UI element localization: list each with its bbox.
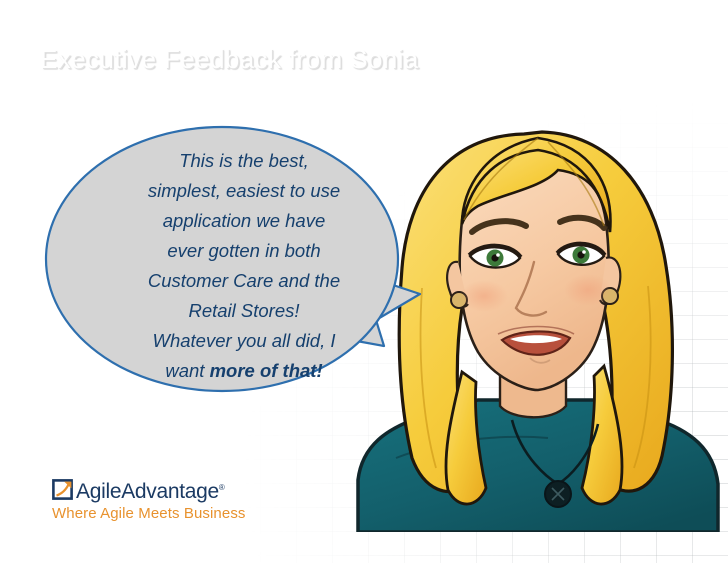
logo-word-advantage: Advantage [121, 480, 219, 503]
logo-tagline: Where Agile Meets Business [52, 505, 252, 522]
logo-trademark: ® [219, 483, 225, 492]
quote-line-8-plain: want [165, 360, 209, 381]
quote-line-8: want more of that! [92, 356, 396, 386]
slide-canvas: Executive Feedback from Sonia [0, 0, 728, 563]
logo-name-row: AgileAdvantage® [52, 477, 252, 502]
quote-line-4: ever gotten in both [92, 236, 396, 266]
quote-line-6: Retail Stores! [92, 296, 396, 326]
quote-line-7: Whatever you all did, I [92, 326, 396, 356]
blush-right [564, 274, 612, 306]
brand-logo[interactable]: AgileAdvantage® Where Agile Meets Busine… [52, 477, 252, 525]
page-title: Executive Feedback from Sonia [40, 44, 419, 75]
logo-wordmark: AgileAdvantage® [76, 477, 225, 502]
speech-bubble: This is the best, simplest, easiest to u… [44, 124, 440, 410]
logo-word-agile: Agile [76, 480, 121, 503]
quote-line-3: application we have [92, 206, 396, 236]
quote-text: This is the best, simplest, easiest to u… [92, 146, 396, 386]
quote-line-2: simplest, easiest to use [92, 176, 396, 206]
checkbox-arrow-icon [52, 479, 73, 500]
quote-line-8-emphasis: more of that! [210, 360, 323, 381]
quote-line-5: Customer Care and the [92, 266, 396, 296]
blush-left [460, 280, 508, 312]
quote-line-1: This is the best, [92, 146, 396, 176]
